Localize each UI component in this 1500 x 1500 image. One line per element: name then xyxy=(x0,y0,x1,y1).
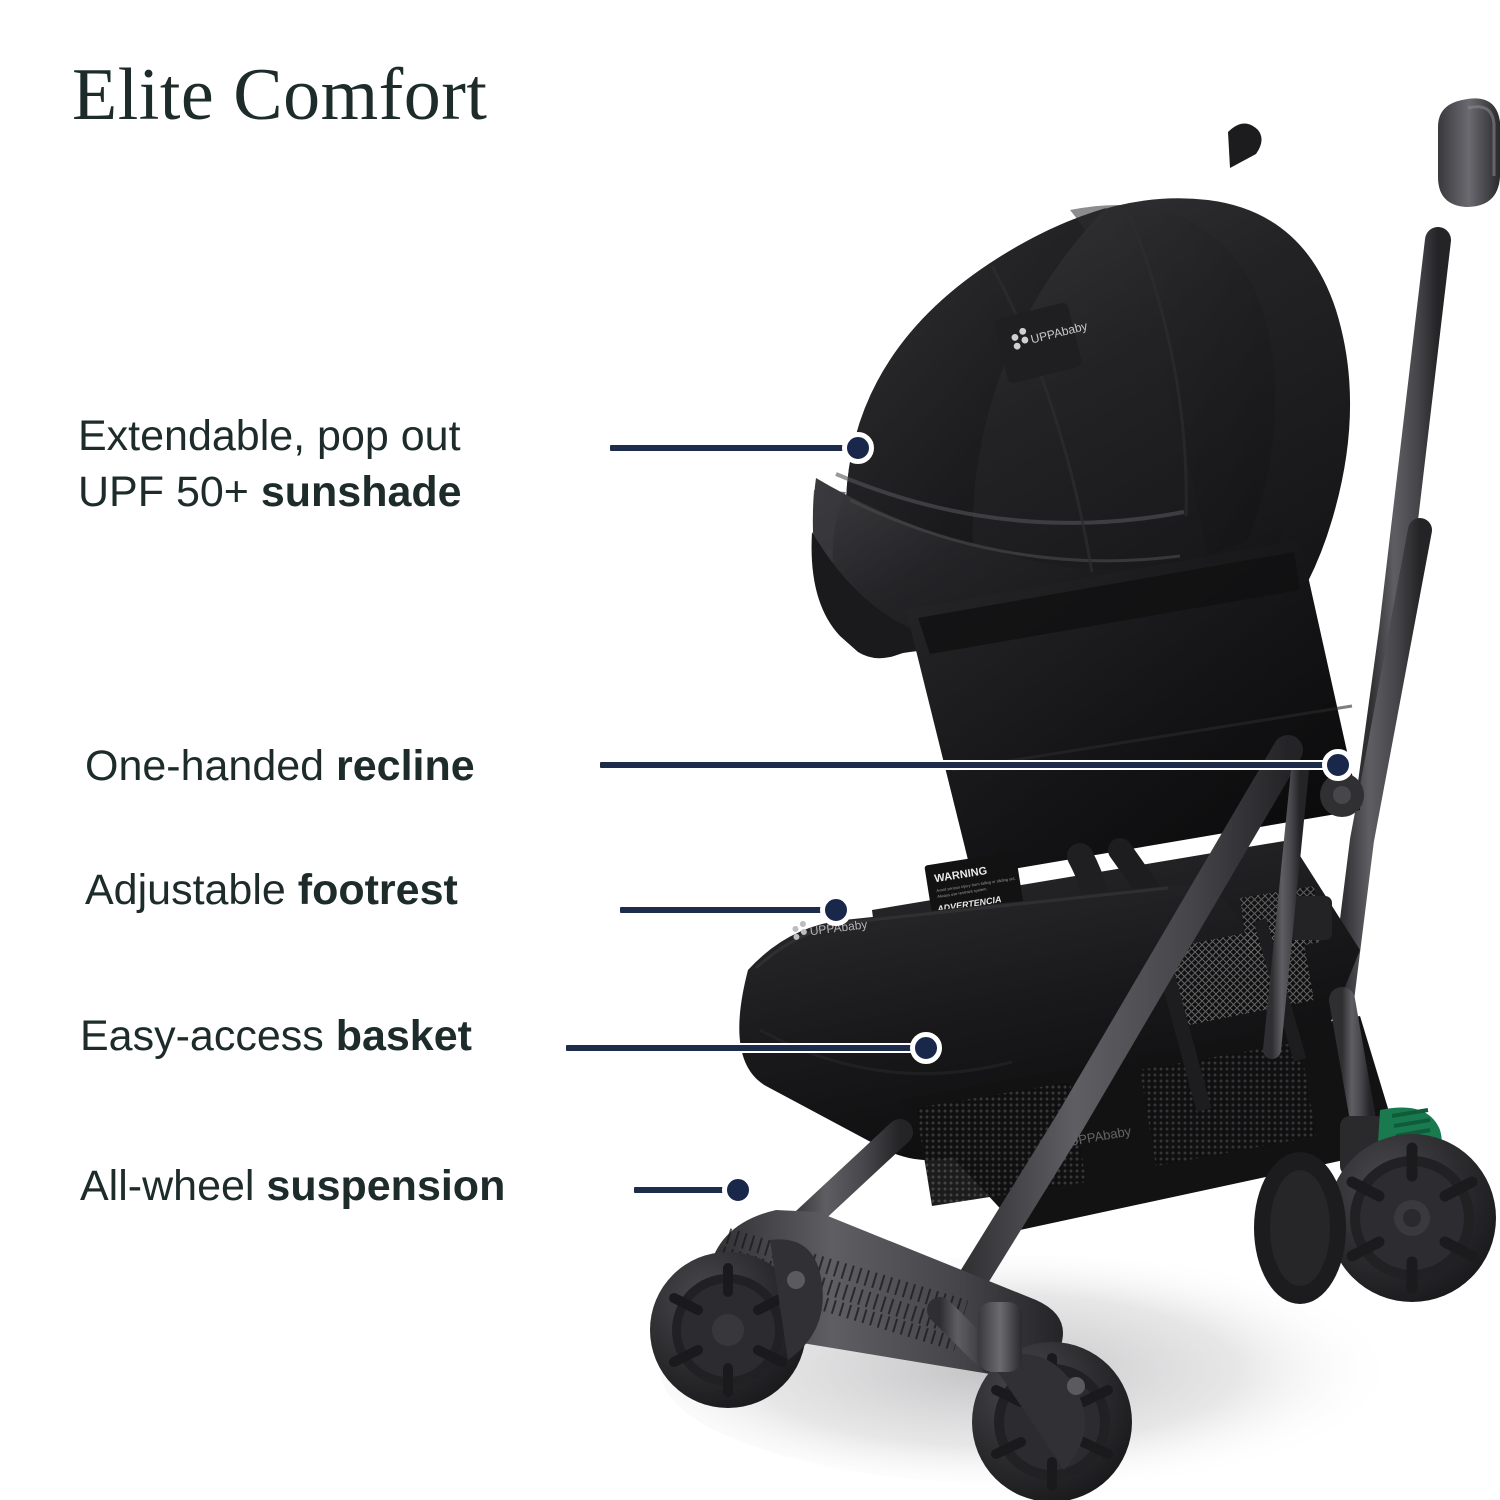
callout-suspension-plain: All-wheel xyxy=(80,1162,266,1210)
callout-sunshade-line1: Extendable, pop out xyxy=(78,412,461,460)
callout-suspension-bold: suspension xyxy=(266,1162,505,1210)
leader-line-sunshade xyxy=(610,440,872,456)
callout-dot-suspension[interactable] xyxy=(722,1174,754,1206)
leader-line-suspension xyxy=(634,1182,754,1198)
rear-wheel-inner xyxy=(1254,1152,1346,1304)
callout-dot-recline[interactable] xyxy=(1322,749,1354,781)
leader-line-footrest xyxy=(620,902,852,918)
callout-recline: One-handed recline xyxy=(85,738,475,794)
page-title: Elite Comfort xyxy=(72,58,488,132)
callout-recline-plain: One-handed xyxy=(85,742,336,790)
callout-recline-bold: recline xyxy=(336,742,475,790)
rear-frame xyxy=(1342,240,1438,1000)
stroller-handle xyxy=(1438,98,1500,207)
rear-wheel xyxy=(1328,1134,1496,1302)
callout-basket: Easy-access basket xyxy=(80,1008,472,1064)
product-image: UPPAbaby WARNING xyxy=(600,70,1500,1500)
callout-footrest-bold: footrest xyxy=(298,866,458,914)
callout-suspension: All-wheel suspension xyxy=(80,1158,505,1214)
leader-line-recline xyxy=(600,757,1360,773)
callout-basket-plain: Easy-access xyxy=(80,1012,336,1060)
callout-sunshade-line2-plain: UPF 50+ xyxy=(78,468,261,516)
infographic-canvas: Elite Comfort xyxy=(0,0,1500,1500)
callout-dot-sunshade[interactable] xyxy=(842,432,874,464)
callout-dot-basket[interactable] xyxy=(910,1032,942,1064)
callout-sunshade-line2-bold: sunshade xyxy=(261,468,462,516)
callout-basket-bold: basket xyxy=(336,1012,472,1060)
callout-sunshade: Extendable, pop out UPF 50+ sunshade xyxy=(78,408,462,520)
callout-footrest-plain: Adjustable xyxy=(85,866,298,914)
callout-footrest: Adjustable footrest xyxy=(85,862,458,918)
leader-line-basket xyxy=(566,1040,942,1056)
callout-dot-footrest[interactable] xyxy=(820,894,852,926)
